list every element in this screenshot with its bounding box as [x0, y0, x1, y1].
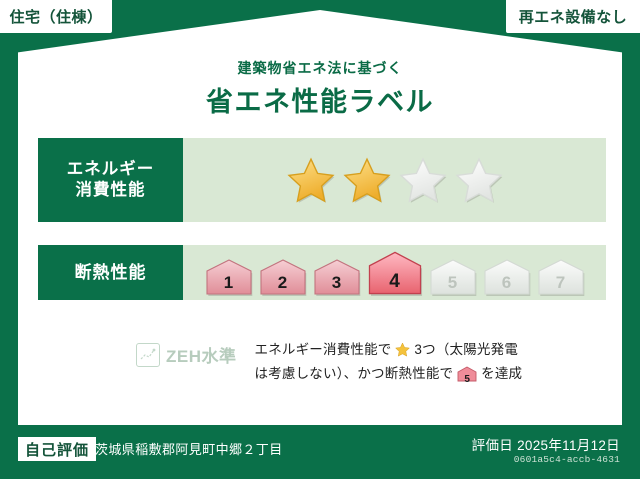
row-insulation-performance-key: 断熱性能 [38, 245, 183, 300]
inline-insulation-badge: 5 [457, 366, 477, 382]
insulation-badge-active: 2 [258, 258, 308, 296]
insulation-badge-value: 5 [448, 273, 457, 293]
property-address: 茨城県稲敷郡阿見町中郷２丁目 [95, 439, 283, 458]
inline-insulation-badge-value: 5 [464, 374, 470, 385]
insulation-badge-active: 3 [312, 258, 362, 296]
page-title: 省エネ性能ラベル [0, 80, 640, 119]
evaluation-date: 評価日 2025年11月12日 [472, 434, 620, 454]
zeh-section: ZEH水準 エネルギー消費性能で 3つ（太陽光発電 は考慮しない）、かつ断熱性能… [38, 336, 606, 396]
star-icon-filled [342, 156, 392, 204]
zeh-note-line-1: エネルギー消費性能で 3つ（太陽光発電 [255, 338, 523, 362]
label-subtitle: 建築物省エネ法に基づく [0, 58, 640, 78]
insulation-badge-value: 3 [332, 273, 341, 293]
tab-building-type: 住宅（住棟） [0, 0, 112, 33]
row-energy-performance: エネルギー 消費性能 [38, 138, 606, 222]
zeh-note-line2-prefix: は考慮しない）、かつ断熱性能で [255, 366, 454, 381]
row-insulation-key-label: 断熱性能 [75, 262, 147, 283]
tab-renewable-energy: 再エネ設備なし [506, 0, 640, 33]
insulation-badge-achieved: 4 [366, 250, 424, 296]
star-icon-empty [398, 156, 448, 204]
star-icon-empty [454, 156, 504, 204]
insulation-badge-value: 7 [556, 273, 565, 293]
zeh-standard-label: ZEH水準 [166, 342, 237, 367]
energy-performance-label: 住宅（住棟） 再エネ設備なし 建築物省エネ法に基づく 省エネ性能ラベル エネルギ… [0, 0, 640, 479]
insulation-badge-value: 6 [502, 273, 511, 293]
insulation-level-scale: 1234567 [204, 250, 586, 296]
insulation-badge-value: 2 [278, 273, 287, 293]
insulation-badge-value: 4 [389, 271, 400, 293]
row-energy-performance-value [183, 138, 606, 222]
tab-renewable-energy-label: 再エネ設備なし [519, 6, 628, 27]
star-rating [286, 156, 504, 204]
zeh-chart-icon [136, 343, 160, 367]
star-icon [395, 342, 410, 357]
label-identifier: 0601a5c4-accb-4631 [514, 454, 620, 465]
insulation-badge-inactive: 7 [536, 258, 586, 296]
row-insulation-performance-value: 1234567 [183, 245, 606, 300]
zeh-note-line1-suffix: 3つ（太陽光発電 [414, 342, 518, 357]
zeh-note-line2-suffix: を達成 [481, 366, 522, 381]
zeh-note-text: エネルギー消費性能で 3つ（太陽光発電 は考慮しない）、かつ断熱性能で 5 を達… [255, 338, 523, 385]
row-energy-performance-key: エネルギー 消費性能 [38, 138, 183, 222]
zeh-note-line1-prefix: エネルギー消費性能で [255, 342, 392, 357]
footer-bar: 自己評価 茨城県稲敷郡阿見町中郷２丁目 評価日 2025年11月12日 0601… [0, 425, 640, 479]
row-energy-key-line1: エネルギー [67, 159, 155, 180]
star-icon-filled [286, 156, 336, 204]
zeh-standard-badge: ZEH水準 [136, 342, 237, 367]
insulation-badge-inactive: 5 [428, 258, 478, 296]
zeh-note-line-2: は考慮しない）、かつ断熱性能で 5 を達成 [255, 362, 523, 386]
insulation-badge-inactive: 6 [482, 258, 532, 296]
insulation-badge-value: 1 [224, 273, 233, 293]
row-insulation-performance: 断熱性能 1234567 [38, 245, 606, 300]
tab-building-type-label: 住宅（住棟） [9, 6, 102, 27]
self-evaluation-label: 自己評価 [25, 439, 89, 460]
self-evaluation-chip: 自己評価 [18, 437, 96, 461]
row-energy-key-line2: 消費性能 [67, 180, 155, 201]
insulation-badge-active: 1 [204, 258, 254, 296]
